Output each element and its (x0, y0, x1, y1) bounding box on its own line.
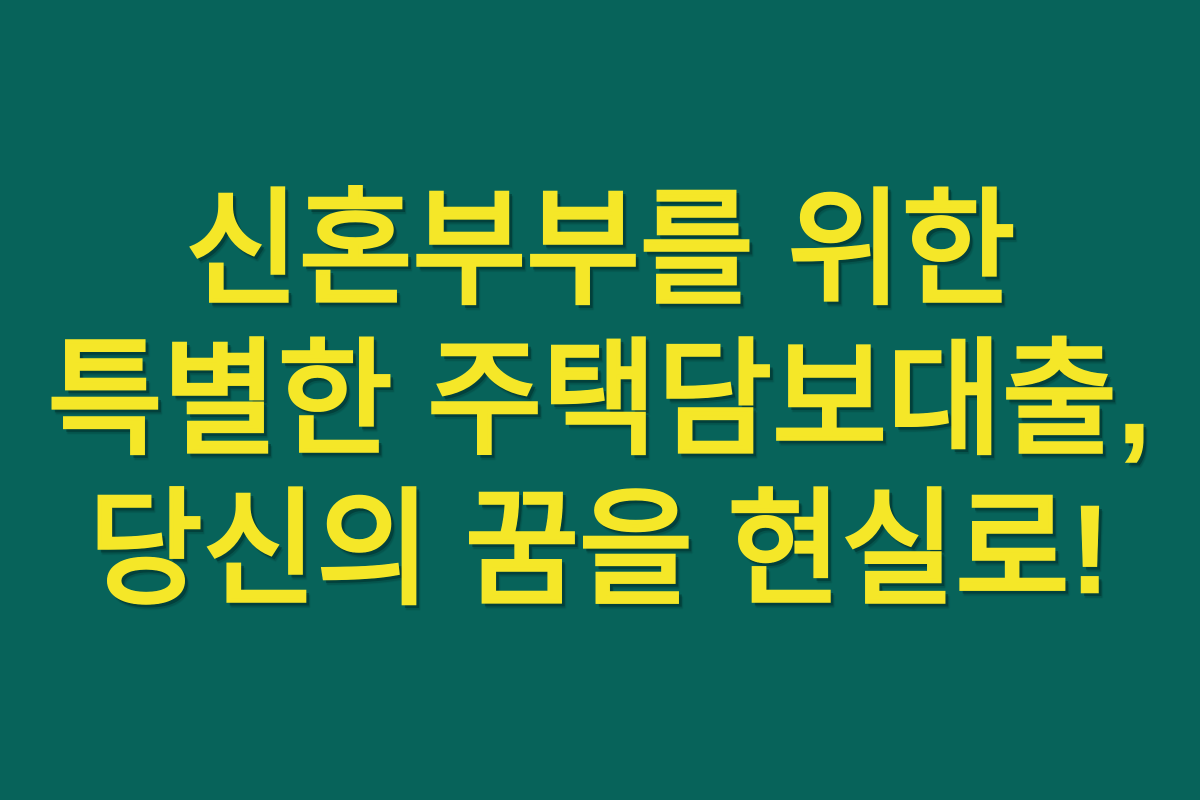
headline-line-2: 특별한 주택담보대출, (48, 325, 1152, 475)
promotional-banner: 신혼부부를 위한 특별한 주택담보대출, 당신의 꿈을 현실로! (0, 0, 1200, 800)
headline-line-1: 신혼부부를 위한 (185, 175, 1015, 325)
headline-line-3: 당신의 꿈을 현실로! (89, 475, 1111, 625)
headline-block: 신혼부부를 위한 특별한 주택담보대출, 당신의 꿈을 현실로! (0, 175, 1200, 625)
